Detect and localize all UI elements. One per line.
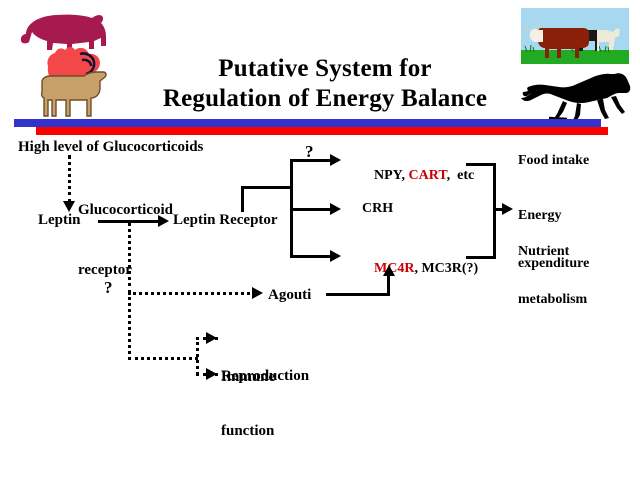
arrowhead-glucocorticoids-to-leptin	[63, 201, 75, 212]
connector-agouti-up	[387, 275, 390, 295]
nutrient-line-2: metabolism	[518, 292, 587, 308]
galloping-horse-silhouette	[519, 72, 634, 126]
npy-separator-2: , etc	[447, 168, 475, 183]
connector-receptor-stub	[241, 186, 244, 212]
npy-text: NPY	[374, 168, 402, 183]
arrowhead-branch-crh	[330, 203, 341, 215]
connector-agouti-to-mc4r	[326, 293, 390, 296]
arrowhead-branch-npy	[330, 154, 341, 166]
title-line-1: Putative System for	[130, 54, 520, 84]
connector-glucocorticoids-to-leptin	[68, 155, 71, 203]
page-title: Putative System for Regulation of Energy…	[130, 54, 520, 114]
cart-text: CART	[409, 168, 447, 183]
connector-receptor-to-trunk	[241, 186, 293, 189]
logo-cow	[42, 72, 106, 116]
connector-dotted-trunk-lower	[128, 292, 131, 360]
label-leptin: Leptin	[38, 212, 81, 229]
connector-collector-trunk	[493, 163, 496, 259]
title-line-2: Regulation of Energy Balance	[130, 84, 520, 114]
connector-branch-crh	[290, 208, 332, 211]
npy-separator-1: ,	[402, 168, 409, 183]
arrowhead-collector-to-outputs	[502, 203, 513, 215]
nutrient-line-1: Nutrient	[518, 244, 587, 260]
connector-mc4r-to-collector	[466, 256, 496, 259]
arrowhead-leptin-to-leptin-receptor	[158, 215, 169, 227]
connector-leptin-down-dotted	[128, 222, 131, 294]
connector-dotted-lower-split	[196, 337, 199, 375]
mc3r-text: , MC3R(?)	[414, 261, 478, 276]
label-immune-function: Immune function	[221, 332, 275, 476]
connector-dotted-to-agouti	[128, 292, 256, 295]
arrowhead-dotted-to-reproduction	[206, 368, 217, 380]
connector-npy-to-collector	[466, 163, 496, 166]
label-glucocorticoid-receptor: Glucocorticoid receptor	[78, 160, 173, 320]
photo-cow-head	[530, 29, 543, 42]
gcr-line-2: receptor	[78, 260, 173, 280]
connector-branch-npy	[290, 159, 332, 162]
animal-sciences-logo	[8, 4, 128, 126]
connector-dotted-lower-horizontal	[128, 357, 198, 360]
label-mc4r-mc3r: MC4R, MC3R(?)	[360, 245, 478, 293]
immune-line-2: function	[221, 422, 275, 440]
arrowhead-dotted-to-immune	[206, 332, 217, 344]
decorative-bar-red	[36, 127, 608, 135]
label-food-intake: Food intake	[518, 153, 589, 169]
arrowhead-agouti-to-mc4r	[383, 265, 395, 276]
hereford-cattle-photo	[521, 8, 629, 64]
label-high-glucocorticoids: High level of Glucocorticoids	[18, 139, 203, 156]
arrowhead-branch-mc4r	[330, 250, 341, 262]
label-leptin-receptor: Leptin Receptor	[173, 212, 278, 229]
decorative-bar-blue	[14, 119, 601, 127]
label-nutrient-metabolism: Nutrient metabolism	[518, 212, 587, 340]
connector-branch-mc4r	[290, 255, 332, 258]
label-crh: CRH	[362, 201, 393, 217]
label-npy-cart-etc: NPY, CART, etc	[360, 152, 474, 200]
logo-pig	[21, 15, 106, 51]
label-question-mark-lower: ?	[104, 278, 113, 298]
arrowhead-dotted-to-agouti	[252, 287, 263, 299]
slide-canvas: Putative System for Regulation of Energy…	[0, 0, 640, 480]
label-reproduction: Reproduction	[221, 368, 309, 385]
label-agouti: Agouti	[268, 287, 311, 304]
